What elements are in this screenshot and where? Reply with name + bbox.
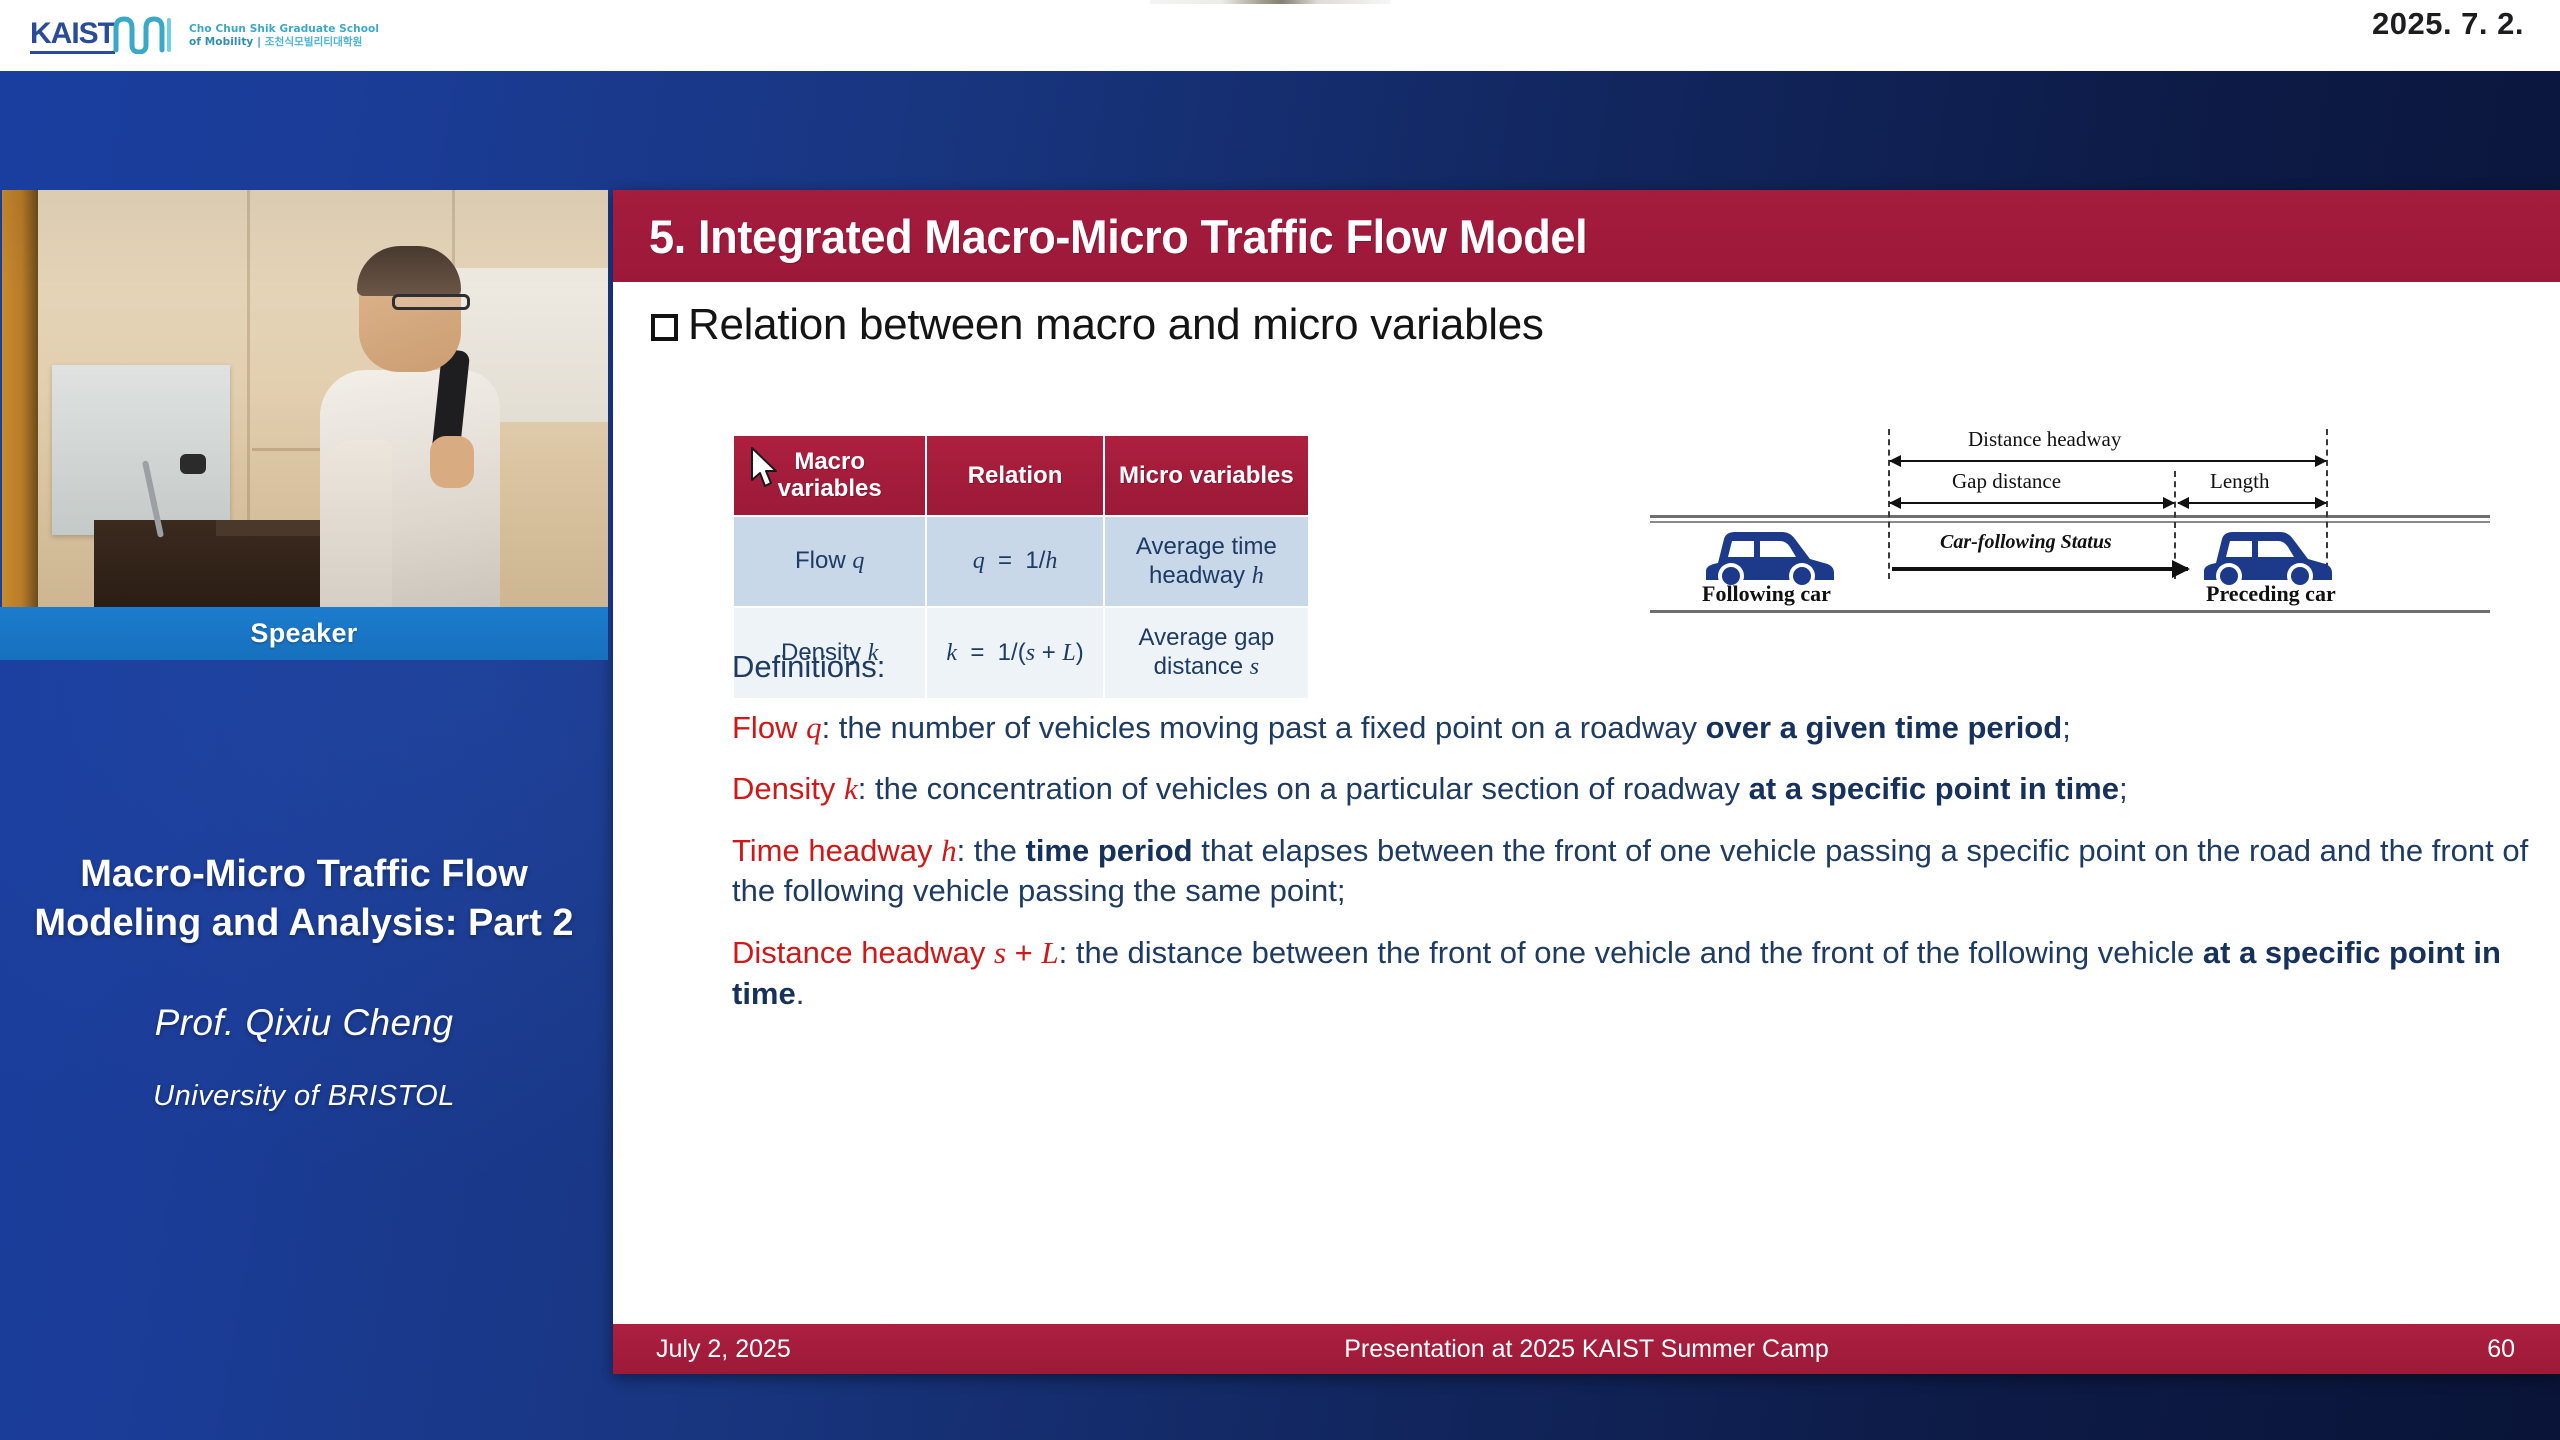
definition-density: Density k: the concentration of vehicles… (732, 769, 2532, 810)
footer-event: Presentation at 2025 KAIST Summer Camp (613, 1335, 2560, 1364)
slide-heading: Relation between macro and micro variabl… (651, 300, 1544, 350)
talk-title: Macro-Micro Traffic Flow Modeling and An… (34, 850, 574, 947)
speaker-panel: Speaker Macro-Micro Traffic Flow Modelin… (0, 190, 608, 1440)
slide-title-text: 5. Integrated Macro-Micro Traffic Flow M… (649, 209, 1587, 264)
slide-surface[interactable]: 5. Integrated Macro-Micro Traffic Flow M… (613, 190, 2560, 1374)
slide-heading-text: Relation between macro and micro variabl… (688, 300, 1544, 350)
column-header-relation: Relation (926, 435, 1103, 516)
mouse-cursor-icon (750, 447, 780, 496)
road-line-top (1650, 515, 2490, 518)
definition-term: Distance headway s + L (732, 935, 1059, 970)
definitions-label: Definitions: (732, 647, 2532, 688)
car-following-diagram: Distance headway Gap distance Length Car… (1650, 427, 2490, 612)
square-bullet-icon (651, 314, 678, 341)
definition-term: Time headway h (732, 833, 957, 868)
preceding-car-icon (2196, 523, 2338, 589)
speaker-label-bar: Speaker (0, 607, 608, 660)
presentation-stage: Speaker Macro-Micro Traffic Flow Modelin… (0, 71, 2560, 1440)
label-distance-headway: Distance headway (1968, 427, 2121, 452)
slide-title-bar: 5. Integrated Macro-Micro Traffic Flow M… (613, 190, 2560, 282)
definitions-block: Definitions: Flow q: the number of vehic… (732, 647, 2532, 1035)
kaist-school-line2: of Mobility | 조천식모빌리티대학원 (189, 36, 379, 49)
mobility-m-icon (113, 14, 175, 59)
slide-body: Relation between macro and micro variabl… (613, 282, 2560, 1324)
speaker-info: Macro-Micro Traffic Flow Modeling and An… (0, 660, 608, 1440)
definition-time-headway: Time headway h: the time period that ela… (732, 831, 2532, 912)
label-following-car: Following car (1702, 581, 1831, 607)
following-car-icon (1698, 523, 1840, 589)
label-preceding-car: Preceding car (2206, 581, 2336, 607)
label-length: Length (2210, 469, 2269, 494)
top-bar: KAIST Cho Chun Shik Graduate School of M… (0, 0, 2560, 71)
top-date: 2025. 7. 2. (2372, 6, 2524, 42)
arrow-distance-headway (1890, 460, 2326, 462)
cell-relation-flow: q = 1/h (926, 516, 1103, 608)
arrow-car-following (1892, 567, 2188, 571)
window-edge-sliver (1150, 0, 1390, 4)
arrow-gap-distance (1890, 502, 2174, 504)
slide-footer: July 2, 2025 Presentation at 2025 KAIST … (613, 1324, 2560, 1374)
kaist-school-line1: Cho Chun Shik Graduate School (189, 23, 379, 36)
table-header-row: Macro variables Relation Micro variables (733, 435, 1309, 516)
kaist-wordmark: KAIST (30, 19, 115, 54)
road-line-bottom (1650, 610, 2490, 613)
label-car-following-status: Car-following Status (1940, 531, 2112, 554)
video-vignette (2, 190, 608, 607)
definition-distance-headway: Distance headway s + L: the distance bet… (732, 933, 2532, 1014)
speaker-label: Speaker (250, 618, 357, 649)
cell-micro-flow: Average timeheadway h (1104, 516, 1309, 608)
column-header-micro: Micro variables (1104, 435, 1309, 516)
footer-page-number: 60 (2487, 1335, 2515, 1364)
speaker-video-feed[interactable] (2, 190, 608, 607)
presenter-name: Prof. Qixiu Cheng (34, 1002, 574, 1044)
table-row: Flow q q = 1/h Average timeheadway h (733, 516, 1309, 608)
definition-flow: Flow q: the number of vehicles moving pa… (732, 708, 2532, 749)
arrow-length (2178, 502, 2326, 504)
kaist-logo: KAIST Cho Chun Shik Graduate School of M… (30, 15, 379, 57)
kaist-logo-subtitle: Cho Chun Shik Graduate School of Mobilit… (189, 23, 379, 49)
presenter-affiliation: University of BRISTOL (34, 1080, 574, 1113)
cell-macro-flow: Flow q (733, 516, 926, 608)
label-gap-distance: Gap distance (1952, 469, 2061, 494)
definition-term: Density k (732, 771, 858, 806)
definition-term: Flow q (732, 710, 822, 745)
